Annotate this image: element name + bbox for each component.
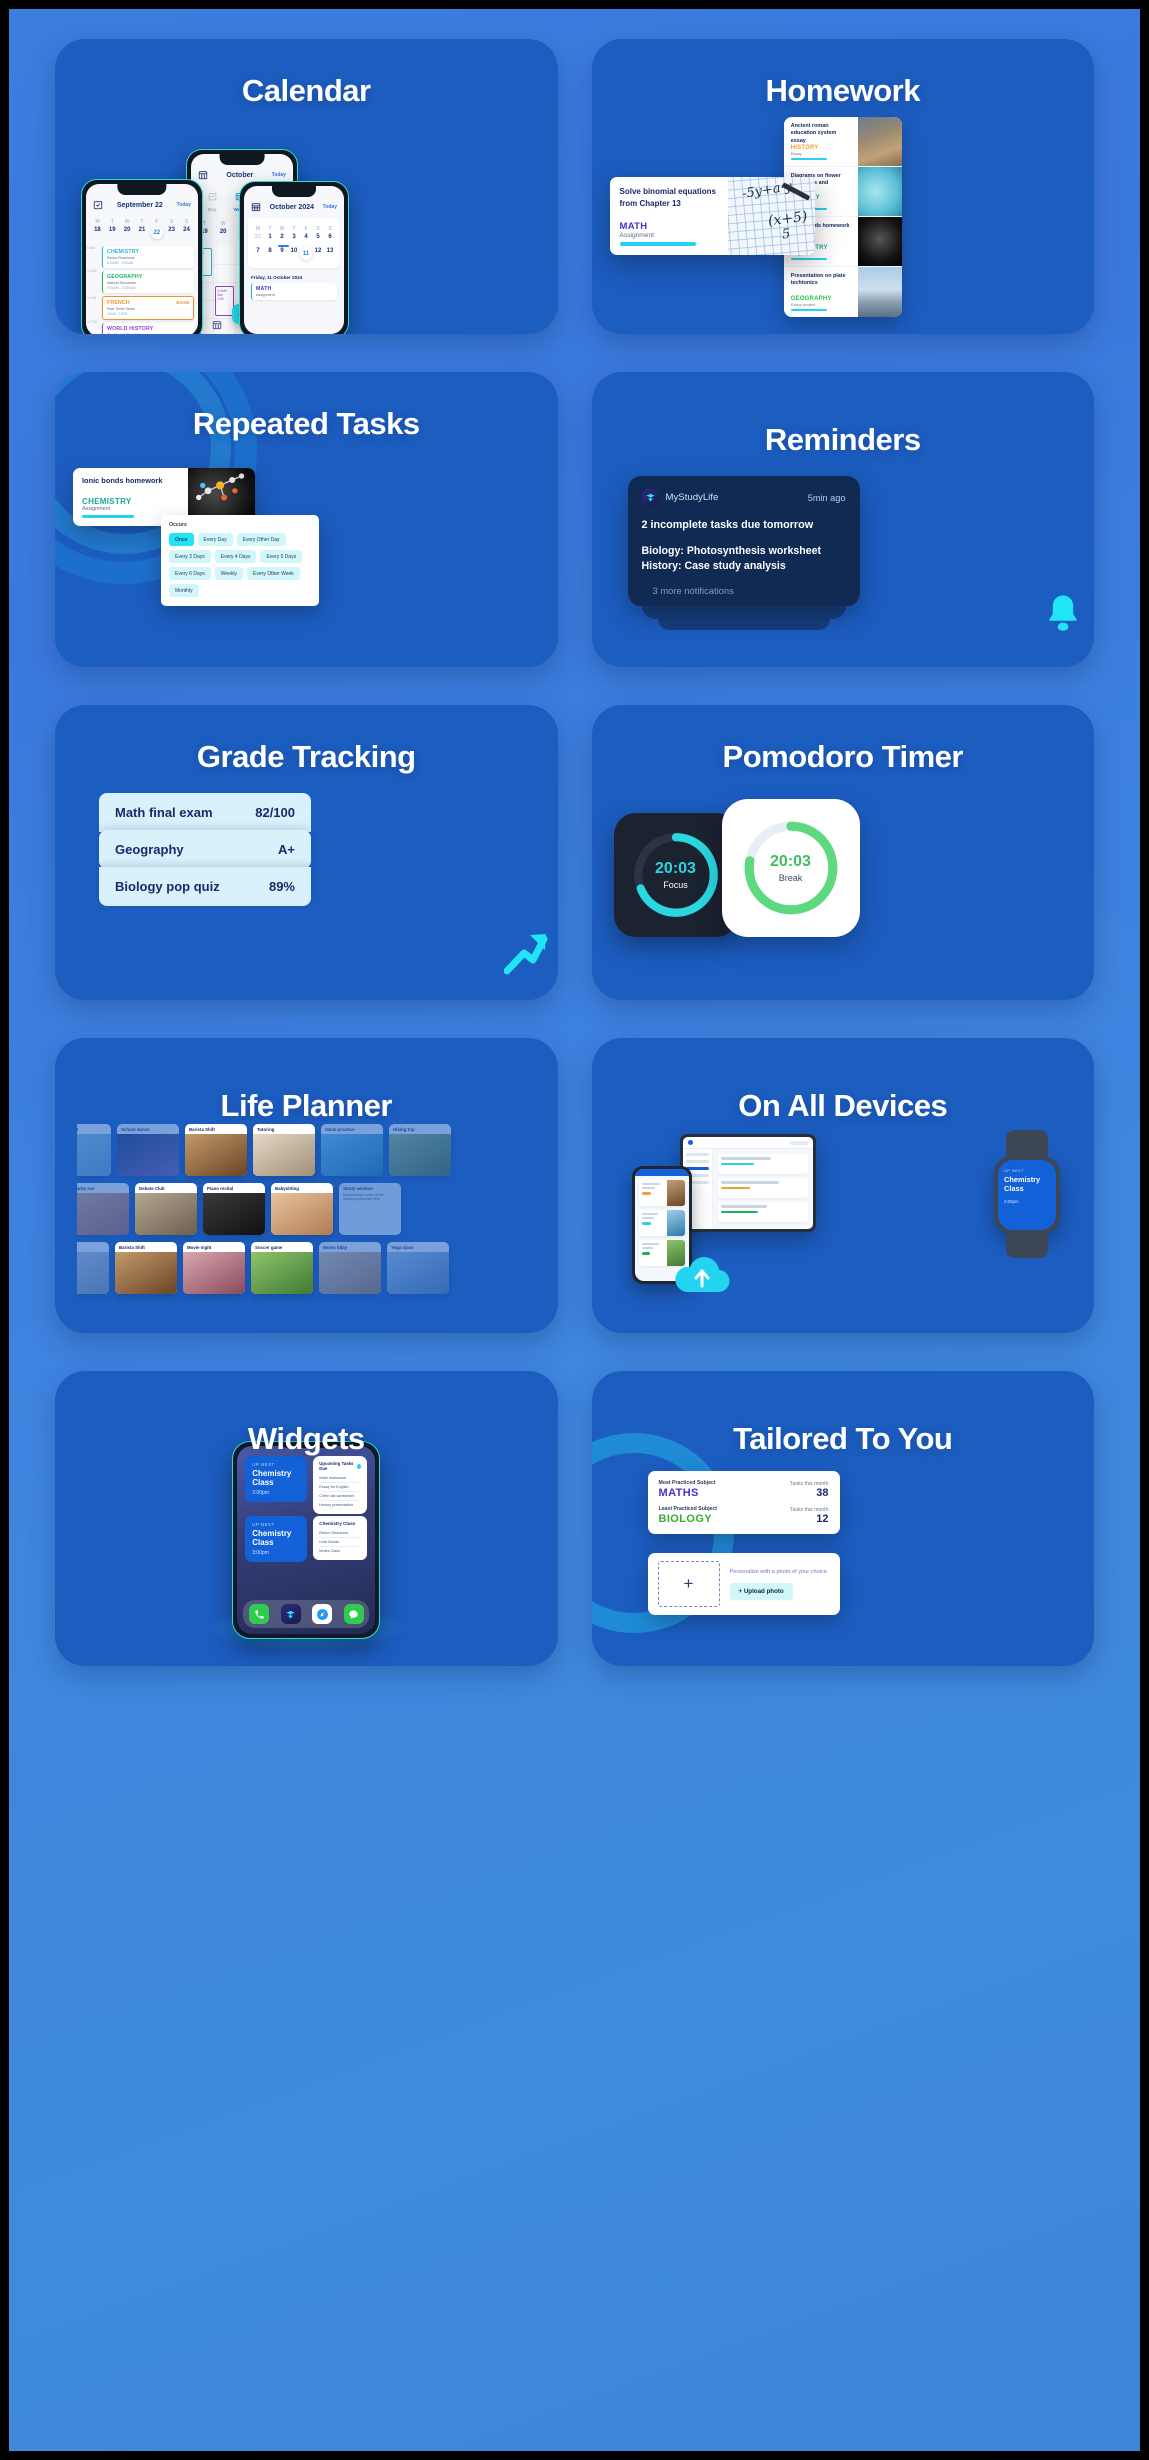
feature-card-life-planner[interactable]: Life Planner Dentist appt School dance [55,1038,558,1333]
tile-caption: Barista Shift [115,1242,177,1252]
tablet-device [680,1134,816,1232]
upload-photo-button[interactable]: + Upload photo [730,1583,793,1600]
notification-stack-layer [642,606,846,619]
tile-caption: Debate Club [135,1183,197,1193]
day-cell[interactable]: 20 [121,227,133,239]
planner-tile[interactable]: Barista Shift [115,1242,177,1294]
day-cell[interactable]: 2 [276,234,288,240]
occurrence-option-every-3-days[interactable]: Every 3 Days [169,550,211,563]
grade-score: A+ [278,842,295,857]
class-row: Moles Class [319,1547,361,1555]
week-phone-title: October [226,172,253,179]
cloud-sync-icon [670,1254,734,1303]
dow: F [151,219,163,225]
grade-score: 89% [269,879,295,894]
day-event-list: 8 AM CHEMISTRY Redox Reactions 8:00AM - … [86,244,198,334]
popup-title: Solve binomial equations from Chapter 13 [620,186,718,210]
focus-timer-tile[interactable]: 20:03 Focus [614,813,738,937]
dow: M [252,226,264,232]
tile-body: Study session notes for the upcoming che… [339,1193,401,1202]
tile-caption: Swim practice [321,1124,383,1134]
event-subject: CHEMISTRY [107,249,190,255]
most-practiced-label: Most Practiced Subject [659,1480,716,1486]
least-practiced-count: 12 [790,1513,829,1525]
hour-label: 8 AM [87,246,95,250]
event-time: 11AM - 12PM [107,312,189,316]
homework-item[interactable]: Presentation on plate techtonics GEOGRAP… [784,267,902,317]
day-cell[interactable]: 8 [264,248,276,260]
most-practiced-row: Most Practiced Subject MATHS Tasks this … [659,1480,829,1499]
notification-title: 2 incomplete tasks due tomorrow [642,519,846,531]
break-time: 20:03 [770,853,811,871]
notification-line: Biology: Photosynthesis worksheet [642,544,846,559]
feature-card-devices[interactable]: On All Devices [592,1038,1095,1333]
watch-strap-top [1006,1130,1048,1158]
widget-upcoming-tasks[interactable]: Upcoming Tasks Due Math homework Essay f… [313,1456,367,1514]
exam-badge: EXAM [176,300,189,305]
messages-icon[interactable] [344,1604,364,1624]
dow: M [91,219,103,225]
homework-type: Essay [791,151,851,156]
feature-card-homework[interactable]: Homework Ancient roman education system … [592,39,1095,334]
tablet-logo-icon [688,1140,693,1145]
devices-stage: UP NEXT Chemistry Class 2:00pm [592,1038,1095,1333]
segment-day[interactable]: Day [208,188,217,212]
progress-bar [791,258,827,260]
notification-stack[interactable]: MyStudyLife 5min ago 2 incomplete tasks … [628,476,860,630]
most-practiced-count: 38 [790,1487,829,1499]
tile-caption: Dentist appt [77,1124,111,1134]
tile-caption: Babysitting [271,1183,333,1193]
grade-row[interactable]: Geography A+ [99,830,311,869]
least-practiced-row: Least Practiced Subject BIOLOGY Tasks th… [659,1506,829,1525]
event-subject: GEOGRAPHY [107,274,190,280]
occurs-label: Occurs [169,522,311,528]
notification-card[interactable]: MyStudyLife 5min ago 2 incomplete tasks … [628,476,860,606]
grade-row[interactable]: Biology pop quiz 89% [99,867,311,906]
calendar-month-phone: October 2024 Today M T W T F S S [239,181,349,334]
tasks-header: Upcoming Tasks Due [319,1461,354,1471]
planner-tile[interactable]: Moms bday [319,1242,381,1294]
day-cell[interactable]: 7 [252,248,264,260]
phone-icon[interactable] [249,1604,269,1624]
least-practiced-label: Least Practiced Subject [659,1506,718,1512]
dow: T [136,219,148,225]
dow: W [121,219,133,225]
card-title-calendar: Calendar [55,73,558,109]
most-practiced-subject: MATHS [659,1487,716,1499]
homework-thumbnail [858,217,902,266]
homework-detail-popup[interactable]: Solve binomial equations from Chapter 13… [610,177,815,255]
class-row: Redox Reactions [319,1529,361,1538]
equation-text: 5 [781,227,791,243]
occurrence-option-every-5-days[interactable]: Every 5 Days [260,550,302,563]
compass-glyph [316,1608,329,1621]
widgets-phone: UP NEXT Chemistry Class 2:00pm Upcoming … [232,1441,380,1639]
card-title-grade-tracking: Grade Tracking [55,739,558,775]
widget-up-next-large[interactable]: UP NEXT Chemistry Class 2:00pm [245,1456,307,1502]
card-title-reminders: Reminders [592,422,1095,458]
segment-day-label: Day [208,207,217,212]
month-footer-date: Friday, 11 October 2024 [244,270,344,283]
task-row: History presentation [319,1501,361,1509]
event-time: 9:30AM - 10:30AM [107,286,190,290]
practiced-subjects-card[interactable]: Most Practiced Subject MATHS Tasks this … [648,1471,840,1534]
break-ring: 20:03 Break [740,817,842,919]
grade-list[interactable]: Math final exam 82/100 Geography A+ Biol… [99,793,311,906]
day-cell[interactable]: 20 [217,229,229,241]
dropzone-plus-icon: + [684,1574,694,1594]
hour-label: 11 AM [87,296,96,300]
task-row: Essay for English [319,1483,361,1492]
feature-card-grid: Calendar October Today [9,9,1140,2451]
grade-name: Math final exam [115,805,213,820]
watch-up-next-label: UP NEXT [1004,1168,1050,1173]
occurrence-picker[interactable]: Occurs Once Every Day Every Other Day Ev… [161,515,319,606]
popup-progress-bar [620,242,696,246]
focus-label: Focus [655,880,696,890]
tasks-badge-icon [357,1464,361,1469]
homework-item[interactable]: Ancient roman education system essay HIS… [784,117,902,167]
month-week-1[interactable]: 31 1 2 3 4 5 6 [248,233,340,245]
watch-strap-bottom [1006,1230,1048,1258]
hour-label: 10 AM [87,269,97,273]
personalize-text: Personalize with a photo of your choice [730,1568,827,1576]
planner-tile[interactable]: Babysitting [271,1183,333,1235]
break-timer-tile[interactable]: 20:03 Break [722,799,860,937]
reminders-stage: MyStudyLife 5min ago 2 incomplete tasks … [592,372,1095,667]
bell-icon [1042,592,1084,641]
tile-caption: Tutoring [253,1124,315,1134]
card-title-widgets: Widgets [55,1421,558,1457]
widgets-stage: UP NEXT Chemistry Class 2:00pm Upcoming … [55,1371,558,1666]
event-type: Assignment [256,293,333,297]
homework-thumbnail [858,267,902,317]
tile-caption: Barista Shift [185,1124,247,1134]
event-topic: The French Revolution [107,333,190,334]
dow: T [288,226,300,232]
homework-thumbnail [858,167,902,216]
calendar-tab-icon[interactable] [212,320,222,330]
planner-tile[interactable]: School dance [117,1124,179,1176]
day-cell[interactable]: 6 [324,234,336,240]
bell-glyph [1042,592,1084,636]
day-cell[interactable]: 5 [312,234,324,240]
watch-event-time: 2:00pm [1004,1199,1050,1204]
popup-thumbnail: -5y+a·y (x+5) 5 [728,177,815,255]
planner-tile[interactable]: Barista Shift [185,1124,247,1176]
dow: F [300,226,312,232]
grade-name: Geography [115,842,184,857]
tile-caption: Yoga class [387,1242,449,1252]
day-cell[interactable]: 24 [180,227,192,239]
task-subject: CHEMISTRY [82,497,179,506]
focus-time: 20:03 [655,860,696,878]
mystudylife-app-icon [642,489,659,506]
day-cell[interactable]: 18 [91,227,103,239]
progress-bar [82,515,134,518]
upward-arrow-glyph [504,929,548,975]
widget-class-list[interactable]: Chemistry Class Redox Reactions Ionic Bo… [313,1516,367,1560]
day-phone-title: September 22 [117,202,163,209]
planner-tile[interactable]: Movie night [183,1242,245,1294]
month-week-2[interactable]: 7 8 9 10 11 12 13 [248,247,340,265]
dow: S [180,219,192,225]
planner-tile[interactable]: Swim practice [321,1124,383,1176]
card-title-pomodoro: Pomodoro Timer [592,739,1095,775]
widget-up-next-small[interactable]: UP NEXT Chemistry Class 3:00pm [245,1516,307,1562]
dow: S [324,226,336,232]
dow: S [166,219,178,225]
trend-arrow-icon [504,929,548,980]
month-dow-row: M T W T F S S [248,221,340,233]
month-phone-title[interactable]: October 2024 [270,204,314,211]
day-cell[interactable]: 10 [288,248,300,260]
month-phone-today[interactable]: Today [323,204,337,210]
class-list-header: Chemistry Class [319,1521,361,1526]
planner-tile[interactable]: Piano recital [203,1183,265,1235]
day-view-icon [208,192,217,201]
feature-card-grade-tracking[interactable]: Grade Tracking Math final exam 82/100 Ge… [55,705,558,1000]
day-cell[interactable]: 23 [166,227,178,239]
tile-caption: Movie night [183,1242,245,1252]
calendar-grid-icon[interactable] [198,170,208,180]
home-screen-dock[interactable] [243,1600,369,1628]
dow: W [276,226,288,232]
occurrence-option-every-other-week[interactable]: Every Other Week [247,567,300,580]
day-event[interactable]: CHEMISTRY Redox Reactions 8:00AM - 9:00A… [102,246,194,268]
widget-up-next-label: UP NEXT [252,1462,300,1467]
notification-stack-layer [658,619,830,630]
day-cell[interactable]: 13 [324,248,336,260]
popup-type: Assignment [620,232,718,239]
molecule-icon [188,468,255,508]
photo-dropzone[interactable]: + [658,1561,720,1607]
popup-subject: MATH [620,221,718,232]
planner-row: Clean room Barista Shift Movie night [77,1242,536,1294]
event-subject: MATH [256,286,333,292]
widget-title: Chemistry Class [252,1469,300,1487]
planner-tile[interactable]: Yoga class [387,1242,449,1294]
day-dow-row: M T W T F S S [86,214,198,226]
widget-time: 2:00pm [252,1490,300,1496]
occurrence-option-once[interactable]: Once [169,533,194,546]
phone-notch [117,184,166,195]
feature-card-calendar[interactable]: Calendar October Today [55,39,558,334]
life-planner-stage: Dentist appt School dance Barista Shift [55,1038,558,1333]
dow: T [264,226,276,232]
progress-bar [791,158,827,160]
dow: W [217,221,229,227]
notification-line: History: Case study analysis [642,559,846,574]
task-type: Assignment [82,506,179,512]
day-event-exam[interactable]: FRENCH EXAM Past Tense Verbs 11AM - 12PM [102,296,194,320]
tile-caption: Hiking trip [389,1124,451,1134]
notification-app-name: MyStudyLife [666,492,719,503]
day-cell[interactable]: 3 [288,234,300,240]
card-title-tailored: Tailored To You [592,1421,1095,1457]
occurrence-option-every-other-day[interactable]: Every Other Day [237,533,286,546]
event-topic: Redox Reactions [107,256,190,260]
planner-tile[interactable]: Clean room [77,1242,109,1294]
event-topic: Natural Structures [107,281,190,285]
task-row: Math homework [319,1474,361,1483]
progress-bar [791,309,827,311]
phone-notch [272,186,316,197]
calendar-check-icon[interactable] [93,200,103,210]
occurrence-option-every-day[interactable]: Every Day [198,533,233,546]
day-cell[interactable]: 19 [106,227,118,239]
day-cell[interactable]: 9 [276,248,288,260]
planner-row: Dentist appt School dance Barista Shift [77,1124,536,1176]
planner-tile-note[interactable]: Study session Study session notes for th… [339,1183,401,1235]
occurrence-option-monthly[interactable]: Monthly [169,584,199,597]
homework-title: Ancient roman education system essay [791,123,851,145]
card-title-repeated-tasks: Repeated Tasks [55,406,558,442]
calendar-day-phone: September 22 Today M T W T F S S [81,179,203,334]
day-phone-today[interactable]: Today [177,202,191,208]
homework-thumbnail [858,117,902,166]
watch-event-title: Chemistry Class [1004,1176,1050,1194]
day-event[interactable]: GEOGRAPHY Natural Structures 9:30AM - 10… [102,271,194,293]
least-practiced-subject: BIOLOGY [659,1513,718,1525]
graduation-cap-icon [645,492,656,503]
feature-card-widgets[interactable]: Widgets UP NEXT Chemistry Class 2:00pm [55,1371,558,1666]
card-title-life-planner: Life Planner [55,1088,558,1124]
grade-name: Biology pop quiz [115,879,220,894]
break-label: Break [770,873,811,883]
day-cell[interactable]: 4 [300,234,312,240]
day-event[interactable]: WORLD HISTORY The French Revolution 12AM… [102,323,194,334]
day-cell[interactable]: 31 [252,234,264,240]
task-title: Ionic bonds homework [82,476,179,485]
day-cell[interactable]: 21 [136,227,148,239]
day-cell-selected[interactable]: 22 [151,227,163,239]
tailored-stage: Most Practiced Subject MATHS Tasks this … [592,1371,1095,1666]
event-time: 8:00AM - 9:00AM [107,261,190,265]
class-row: Ionic Bonds [319,1538,361,1547]
planner-row: Charity run Debate Club Piano recital [77,1183,536,1235]
event-topic: Past Tense Verbs [107,307,189,311]
card-title-devices: On All Devices [592,1088,1095,1124]
widget-up-next-label: UP NEXT [252,1522,300,1527]
mystudylife-icon[interactable] [281,1604,301,1624]
app-showcase-page: Calendar October Today [0,0,1149,2460]
tile-caption: Study session [339,1183,401,1193]
tile-caption: Charity run [77,1183,129,1193]
day-cell-selected[interactable]: 11 [300,248,312,260]
photo-upload-card[interactable]: + Personalize with a photo of your choic… [648,1553,840,1615]
phone-glyph [254,1609,265,1620]
occurrence-option-weekly[interactable]: Weekly [215,567,243,580]
day-number-row[interactable]: 18 19 20 21 22 23 24 [86,226,198,244]
day-cell[interactable]: 12 [312,248,324,260]
occurrence-option-every-4-days[interactable]: Every 4 Days [215,550,257,563]
event-subject: WORLD HISTORY [107,326,190,332]
dow: S [312,226,324,232]
hour-label: 12 PM [87,320,97,324]
widget-title: Chemistry Class [252,1529,300,1547]
calendar-month-icon[interactable] [251,202,261,212]
tile-caption: Soccer game [251,1242,313,1252]
planner-tile[interactable]: Tutoring [253,1124,315,1176]
occurrence-option-every-6-days[interactable]: Every 6 Days [169,567,211,580]
planner-tile[interactable]: Charity run [77,1183,129,1235]
widget-time: 3:00pm [252,1550,300,1556]
phone-notch [220,154,265,165]
watch-device: UP NEXT Chemistry Class 2:00pm [994,1156,1060,1234]
message-bubble-glyph [348,1609,359,1620]
dow: T [106,219,118,225]
more-notifications-label[interactable]: 3 more notifications [653,585,846,596]
focus-ring: 20:03 Focus [630,829,722,921]
planner-tile[interactable]: Hiking trip [389,1124,451,1176]
safari-icon[interactable] [312,1604,332,1624]
week-phone-today[interactable]: Today [272,172,286,178]
notification-timestamp: 5min ago [808,493,846,503]
cloud-upload-glyph [670,1254,734,1298]
tile-caption: Clean room [77,1242,109,1252]
card-title-homework: Homework [592,73,1095,109]
homework-title: Presentation on plate techtonics [791,273,851,288]
feature-card-reminders[interactable]: Reminders MyStu [592,372,1095,667]
graduation-cap-glyph [285,1609,296,1620]
tile-caption: Moms bday [319,1242,381,1252]
tile-caption: Piano recital [203,1183,265,1193]
task-row: Chem lab worksheet [319,1492,361,1501]
life-planner-tiles[interactable]: Dentist appt School dance Barista Shift [77,1124,536,1315]
planner-tile[interactable]: Soccer game [251,1242,313,1294]
month-footer-event[interactable]: MATH Assignment [251,283,337,300]
grade-score: 82/100 [255,805,295,820]
feature-card-pomodoro[interactable]: Pomodoro Timer 20:03 Focus [592,705,1095,1000]
grade-row[interactable]: Math final exam 82/100 [99,793,311,832]
day-cell[interactable]: 1 [264,234,276,240]
planner-tile[interactable]: Dentist appt [77,1124,111,1176]
feature-card-repeated-tasks[interactable]: Repeated Tasks Ionic bonds homework CHEM… [55,372,558,667]
planner-tile[interactable]: Debate Club [135,1183,197,1235]
tile-caption: School dance [117,1124,179,1134]
feature-card-tailored[interactable]: Tailored To You Most Practiced Subject M… [592,1371,1095,1666]
homework-type: Group project [791,302,851,307]
